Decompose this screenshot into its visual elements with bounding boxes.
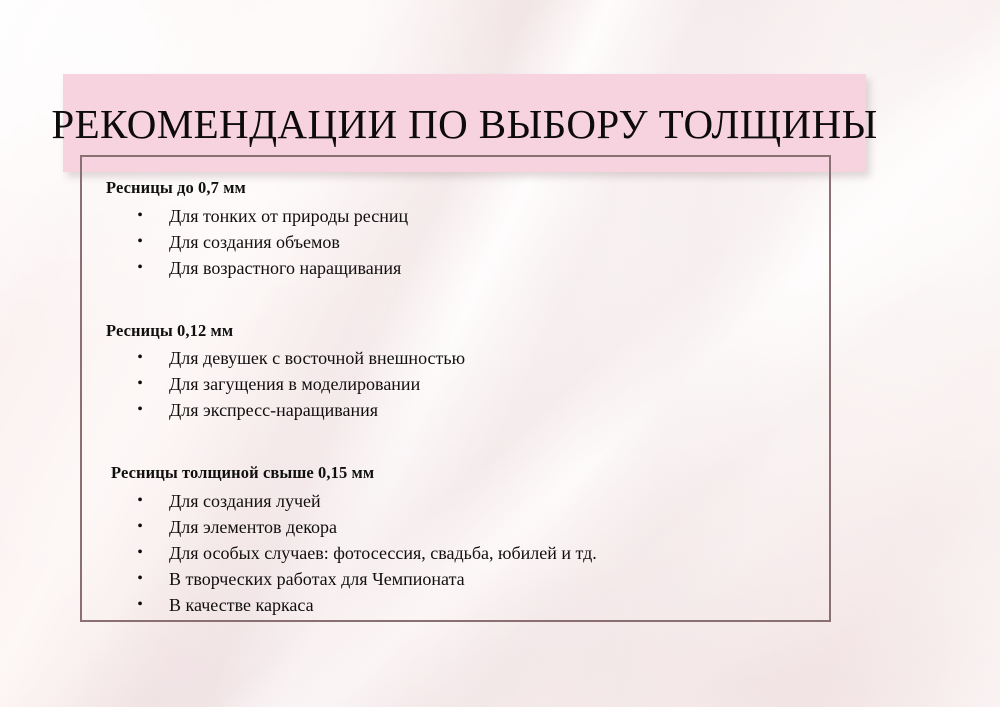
list-item-label: Для загущения в моделировании	[169, 374, 420, 394]
list-item-label: В творческих работах для Чемпионата	[169, 569, 465, 589]
list-item-label: В качестве каркаса	[169, 595, 314, 615]
bullet-icon: •	[135, 371, 145, 397]
list-item-label: Для возрастного наращивания	[169, 258, 401, 278]
bullet-icon: •	[135, 514, 145, 540]
bullet-list: • Для тонких от природы ресниц • Для соз…	[106, 203, 813, 281]
list-item: • Для загущения в моделировании	[106, 371, 813, 397]
list-item: • Для создания лучей	[106, 488, 813, 514]
list-item: • Для возрастного наращивания	[106, 255, 813, 281]
list-item: • Для особых случаев: фотосессия, свадьб…	[106, 540, 813, 566]
list-item: • В качестве каркаса	[106, 592, 813, 618]
list-item-label: Для девушек с восточной внешностью	[169, 348, 465, 368]
section-thickness-0-7: Ресницы до 0,7 мм • Для тонких от природ…	[106, 178, 813, 281]
list-item-label: Для экспресс-наращивания	[169, 400, 378, 420]
bullet-icon: •	[135, 203, 145, 229]
slide-root: РЕКОМЕНДАЦИИ ПО ВЫБОРУ ТОЛЩИНЫ Ресницы д…	[0, 0, 1000, 707]
content-area: Ресницы до 0,7 мм • Для тонких от природ…	[80, 155, 831, 622]
bullet-icon: •	[135, 488, 145, 514]
bullet-list: • Для девушек с восточной внешностью • Д…	[106, 345, 813, 423]
list-item: • Для создания объемов	[106, 229, 813, 255]
list-item-label: Для особых случаев: фотосессия, свадьба,…	[169, 543, 597, 563]
bullet-icon: •	[135, 255, 145, 281]
bullet-icon: •	[135, 229, 145, 255]
section-heading: Ресницы толщиной свыше 0,15 мм	[106, 463, 813, 484]
section-thickness-0-15: Ресницы толщиной свыше 0,15 мм • Для соз…	[106, 463, 813, 618]
list-item-label: Для создания объемов	[169, 232, 340, 252]
bullet-list: • Для создания лучей • Для элементов дек…	[106, 488, 813, 618]
bullet-icon: •	[135, 566, 145, 592]
list-item: • Для девушек с восточной внешностью	[106, 345, 813, 371]
list-item: • В творческих работах для Чемпионата	[106, 566, 813, 592]
bullet-icon: •	[135, 540, 145, 566]
bullet-icon: •	[135, 592, 145, 618]
section-heading: Ресницы 0,12 мм	[106, 321, 813, 342]
list-item-label: Для создания лучей	[169, 491, 321, 511]
list-item-label: Для элементов декора	[169, 517, 337, 537]
bullet-icon: •	[135, 345, 145, 371]
list-item: • Для тонких от природы ресниц	[106, 203, 813, 229]
list-item: • Для экспресс-наращивания	[106, 397, 813, 423]
list-item-label: Для тонких от природы ресниц	[169, 206, 408, 226]
bullet-icon: •	[135, 397, 145, 423]
list-item: • Для элементов декора	[106, 514, 813, 540]
section-heading: Ресницы до 0,7 мм	[106, 178, 813, 199]
section-thickness-0-12: Ресницы 0,12 мм • Для девушек с восточно…	[106, 321, 813, 424]
